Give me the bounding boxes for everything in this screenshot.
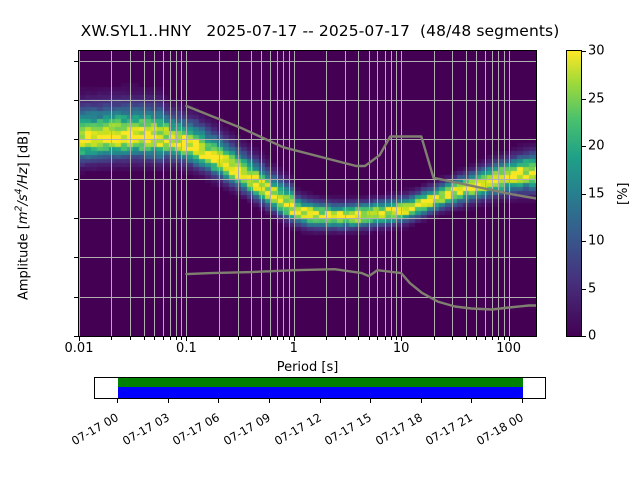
- x-axis-tick-mark: [498, 337, 499, 340]
- timeline-tick-label: 07-17 03: [120, 410, 172, 448]
- x-axis-tick-mark: [261, 337, 262, 340]
- x-axis-tick-mark: [219, 337, 220, 340]
- colorbar-tick-label: 30: [588, 44, 605, 59]
- x-axis-tick-mark: [401, 337, 402, 341]
- timeline-blue-bar: [118, 387, 523, 398]
- x-axis-tick-label: 0.01: [65, 341, 94, 356]
- x-axis-tick-label: 100: [496, 341, 521, 356]
- colorbar-tick-label: 25: [588, 91, 605, 106]
- x-axis-tick-mark: [294, 337, 295, 341]
- x-axis-tick-mark: [289, 337, 290, 340]
- timeline-tick-label: 07-18 00: [474, 410, 526, 448]
- x-axis-tick-mark: [396, 337, 397, 340]
- colorbar-tick-mark: [582, 241, 586, 242]
- colorbar-tick-mark: [582, 146, 586, 147]
- timeline-tick-label: 07-17 09: [221, 410, 273, 448]
- colorbar-tick-label: 5: [588, 281, 596, 296]
- timeline-tick-label: 07-17 12: [272, 410, 324, 448]
- x-axis-tick-mark: [170, 337, 171, 340]
- y-axis-tick-mark: [74, 336, 78, 337]
- timeline-tick-mark: [168, 399, 169, 403]
- x-axis-tick-mark: [385, 337, 386, 340]
- y-axis-tick-mark: [74, 139, 78, 140]
- timeline-tick-mark: [218, 399, 219, 403]
- x-axis-tick-label: 1: [290, 341, 298, 356]
- colorbar-tick-label: 15: [588, 186, 605, 201]
- x-axis-tick-mark: [434, 337, 435, 340]
- x-axis-tick-mark: [492, 337, 493, 340]
- y-axis-tick-mark: [74, 297, 78, 298]
- x-axis-label: Period [s]: [78, 360, 537, 375]
- ppsd-plot-axes: [78, 50, 537, 337]
- x-axis-tick-mark: [466, 337, 467, 340]
- x-axis-tick-mark: [186, 337, 187, 341]
- colorbar-tick-mark: [582, 194, 586, 195]
- timeline-tick-label: 07-17 15: [322, 410, 374, 448]
- x-axis-tick-mark: [176, 337, 177, 340]
- x-axis-tick-mark: [277, 337, 278, 340]
- x-axis-tick-mark: [270, 337, 271, 340]
- x-axis-tick-mark: [509, 337, 510, 341]
- colorbar-tick-mark: [582, 336, 586, 337]
- timeline-tick-label: 07-17 06: [170, 410, 222, 448]
- x-axis-tick-mark: [130, 337, 131, 340]
- x-axis-tick-mark: [452, 337, 453, 340]
- timeline-tick-mark: [269, 399, 270, 403]
- x-axis-tick-mark: [144, 337, 145, 340]
- x-axis-tick-mark: [154, 337, 155, 340]
- colorbar-tick-label: 10: [588, 234, 605, 249]
- timeline-tick-label: 07-17 00: [69, 410, 121, 448]
- x-axis-tick-label: 0.1: [176, 341, 197, 356]
- y-axis-label: Amplitude [m2/s4/Hz] [dB]: [14, 131, 31, 300]
- x-axis-tick-mark: [79, 337, 80, 341]
- y-axis-tick-mark: [74, 100, 78, 101]
- colorbar-tick-label: 20: [588, 139, 605, 154]
- timeline-tick-label: 07-17 18: [373, 410, 425, 448]
- timeline-tick-mark: [370, 399, 371, 403]
- y-axis-tick-mark: [74, 61, 78, 62]
- y-axis-tick-mark: [74, 218, 78, 219]
- x-axis-tick-mark: [163, 337, 164, 340]
- x-axis-tick-mark: [111, 337, 112, 340]
- x-axis-tick-mark: [504, 337, 505, 340]
- x-axis-tick-mark: [345, 337, 346, 340]
- colorbar-tick-mark: [582, 51, 586, 52]
- x-axis-tick-mark: [238, 337, 239, 340]
- x-axis-tick-label: 10: [393, 341, 410, 356]
- timeline-green-bar: [118, 378, 523, 387]
- x-axis-tick-mark: [485, 337, 486, 340]
- timeline-tick-mark: [471, 399, 472, 403]
- peterson-noise-model-curves: [79, 51, 536, 336]
- x-axis-tick-mark: [369, 337, 370, 340]
- page-title: XW.SYL1..HNY 2025-07-17 -- 2025-07-17 (4…: [0, 22, 640, 40]
- y-axis-tick-mark: [74, 257, 78, 258]
- colorbar-label: [%]: [616, 183, 631, 206]
- x-axis-tick-mark: [476, 337, 477, 340]
- data-coverage-timeline: [94, 377, 546, 399]
- timeline-tick-mark: [421, 399, 422, 403]
- colorbar-tick-mark: [582, 289, 586, 290]
- x-axis-tick-mark: [251, 337, 252, 340]
- x-axis-tick-mark: [377, 337, 378, 340]
- x-axis-tick-mark: [391, 337, 392, 340]
- timeline-tick-mark: [320, 399, 321, 403]
- colorbar: [566, 50, 582, 337]
- y-axis-tick-mark: [74, 179, 78, 180]
- figure-canvas: XW.SYL1..HNY 2025-07-17 -- 2025-07-17 (4…: [0, 0, 640, 480]
- x-axis-tick-mark: [181, 337, 182, 340]
- x-axis-tick-mark: [358, 337, 359, 340]
- timeline-tick-mark: [117, 399, 118, 403]
- timeline-tick-mark: [522, 399, 523, 403]
- x-axis-tick-mark: [326, 337, 327, 340]
- timeline-tick-label: 07-17 21: [423, 410, 475, 448]
- colorbar-tick-label: 0: [588, 329, 596, 344]
- colorbar-tick-mark: [582, 99, 586, 100]
- x-axis-tick-mark: [283, 337, 284, 340]
